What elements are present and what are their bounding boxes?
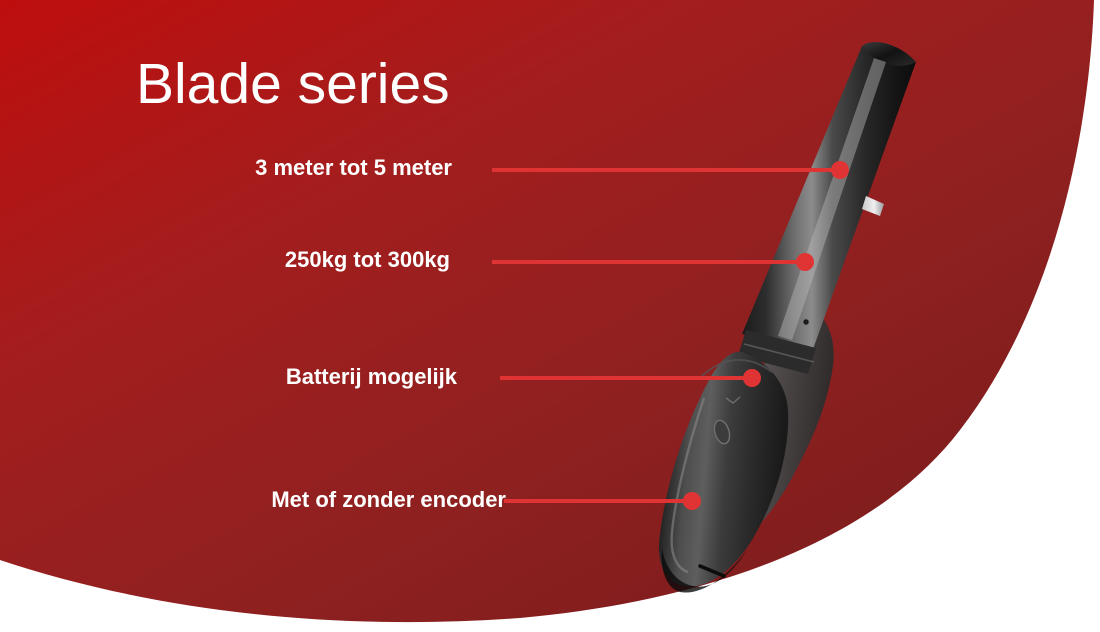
page-title: Blade series <box>136 52 450 118</box>
callout-label-capacity: 250kg tot 300kg <box>285 249 450 271</box>
device-nozzle-stub <box>862 196 884 216</box>
callout-label-battery: Batterij mogelijk <box>286 366 457 388</box>
device-screw-dot <box>803 319 809 325</box>
callout-label-encoder: Met of zonder encoder <box>271 489 506 511</box>
device-group <box>659 42 916 592</box>
callout-label-range: 3 meter tot 5 meter <box>255 157 452 179</box>
slide-canvas: Blade series 3 meter tot 5 meter 250kg t… <box>0 0 1100 632</box>
device-handle-body <box>659 352 788 587</box>
